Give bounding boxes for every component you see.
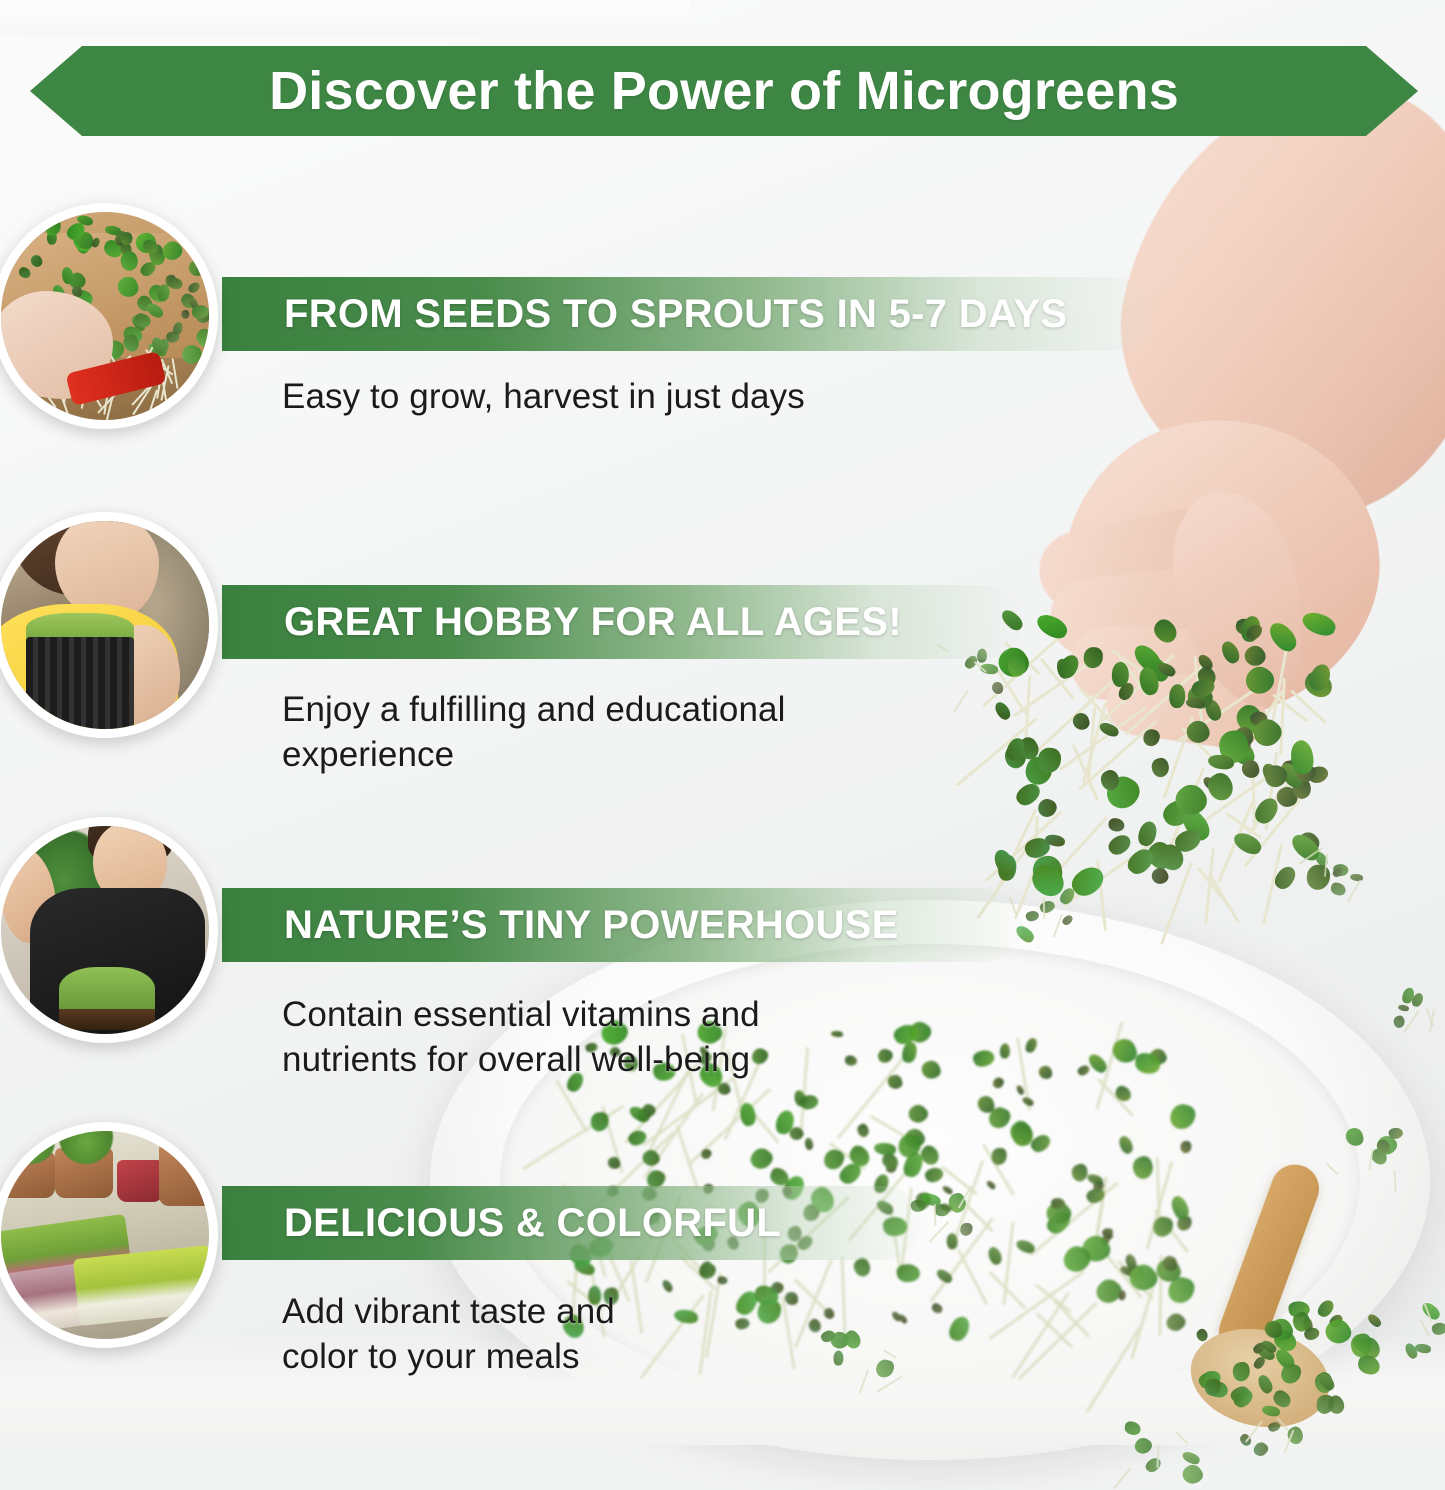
leaf-shape xyxy=(181,309,191,319)
feature-bar: FROM SEEDS TO SPROUTS IN 5-7 DAYS xyxy=(222,277,1152,351)
page-title: Discover the Power of Microgreens xyxy=(269,64,1179,118)
feature-title: DELICIOUS & COLORFUL xyxy=(284,1203,781,1243)
feature-thumbnail-4 xyxy=(0,1122,218,1348)
feature-thumbnail-2 xyxy=(0,512,218,738)
leaf-shape xyxy=(1179,1461,1206,1488)
feature-subtitle: Easy to grow, harvest in just days xyxy=(282,375,805,420)
leaf-shape xyxy=(200,218,214,236)
microgreens-tray xyxy=(73,1245,216,1326)
leaf-shape xyxy=(60,266,74,285)
microgreens-trays-photo xyxy=(1,1131,209,1339)
black-tray xyxy=(26,637,134,729)
man-flexing-with-microgreens-photo xyxy=(1,826,209,1034)
leaf-shape xyxy=(30,253,45,268)
leaf-shape xyxy=(119,250,140,272)
feature-subtitle: Add vibrant taste and color to your meal… xyxy=(282,1290,615,1380)
stem-shape xyxy=(1113,1468,1132,1490)
leaf-shape xyxy=(22,220,31,233)
feature-subtitle-line: Contain essential vitamins and xyxy=(282,993,760,1038)
feature-subtitle-line: Add vibrant taste and xyxy=(282,1290,615,1335)
feature-subtitle-line: experience xyxy=(282,733,785,778)
leaf-shape xyxy=(186,280,201,295)
leaf-shape xyxy=(44,218,61,236)
header-banner: Discover the Power of Microgreens xyxy=(30,46,1418,136)
leaf-shape xyxy=(1143,1454,1163,1474)
leaf-shape xyxy=(168,276,184,290)
feature-subtitle-line: color to your meals xyxy=(282,1335,615,1380)
feature-thumbnail-3 xyxy=(0,817,218,1043)
leaf-shape xyxy=(166,217,177,230)
feature-bar: GREAT HOBBY FOR ALL AGES! xyxy=(222,585,1022,659)
girl-with-microgreens-tray-photo xyxy=(1,521,209,729)
feature-subtitle-line: nutrients for overall well-being xyxy=(282,1038,760,1083)
feature-title: FROM SEEDS TO SPROUTS IN 5-7 DAYS xyxy=(284,294,1067,334)
feature-title: NATURE’S TINY POWERHOUSE xyxy=(284,905,899,945)
soil-block xyxy=(59,1009,155,1030)
feature-bar: DELICIOUS & COLORFUL xyxy=(222,1186,922,1260)
clay-pot xyxy=(159,1143,217,1205)
feature-subtitle: Enjoy a fulfilling and educational exper… xyxy=(282,688,785,778)
feature-title: GREAT HOBBY FOR ALL AGES! xyxy=(284,602,902,642)
leaf-shape xyxy=(116,275,141,300)
feature-subtitle-line: Enjoy a fulfilling and educational xyxy=(282,688,785,733)
feature-bar: NATURE’S TINY POWERHOUSE xyxy=(222,888,1022,962)
feature-list: FROM SEEDS TO SPROUTS IN 5-7 DAYS Easy t… xyxy=(0,0,1445,1445)
leaf-shape xyxy=(187,258,207,278)
leaf-shape xyxy=(18,266,33,280)
hand-harvesting-microgreens-photo xyxy=(1,212,209,420)
red-pot xyxy=(117,1160,163,1202)
feature-subtitle: Contain essential vitamins and nutrients… xyxy=(282,993,760,1083)
feature-thumbnail-1 xyxy=(0,203,218,429)
